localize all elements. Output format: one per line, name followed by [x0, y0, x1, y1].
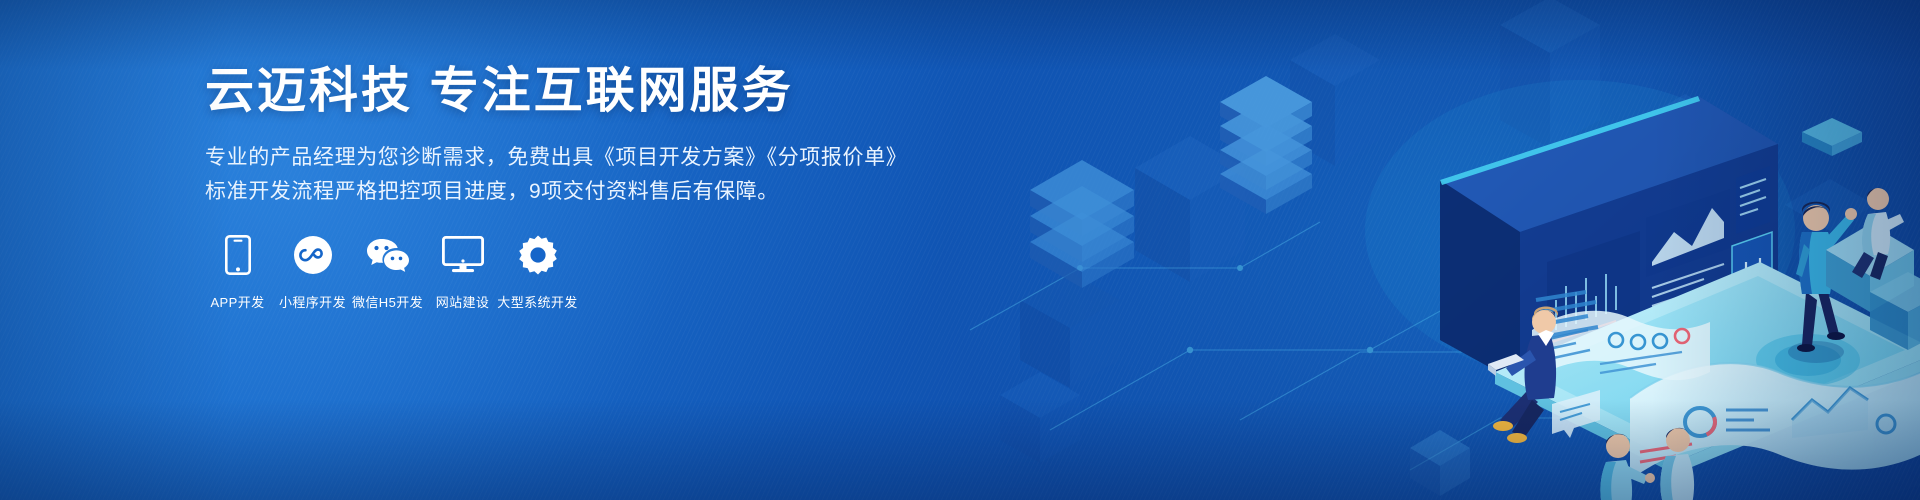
hero-illustration	[940, 0, 1920, 500]
service-item-website[interactable]: 网站建设	[425, 232, 500, 311]
service-label: 网站建设	[436, 292, 490, 311]
monitor-icon	[442, 232, 484, 278]
service-label: 小程序开发	[279, 292, 346, 311]
subtitle-line-1: 专业的产品经理为您诊断需求，免费出具《项目开发方案》《分项报价单》	[205, 146, 907, 169]
service-label: 微信H5开发	[352, 292, 423, 311]
mini-program-icon	[293, 232, 333, 278]
hero-banner: 云迈科技 专注互联网服务 专业的产品经理为您诊断需求，免费出具《项目开发方案》《…	[0, 0, 1920, 500]
service-item-app[interactable]: APP开发	[200, 232, 275, 311]
service-item-wechat-h5[interactable]: 微信H5开发	[350, 232, 425, 311]
gear-icon	[518, 232, 558, 278]
service-list: APP开发 小程序开发 微信	[200, 232, 575, 311]
service-label: APP开发	[210, 292, 264, 311]
wechat-icon	[365, 232, 411, 278]
service-item-large-system[interactable]: 大型系统开发	[500, 232, 575, 311]
hero-subtitle: 专业的产品经理为您诊断需求，免费出具《项目开发方案》《分项报价单》 标准开发流程…	[205, 141, 945, 209]
subtitle-line-2: 标准开发流程严格把控项目进度，9项交付资料售后有保障。	[205, 175, 945, 209]
mobile-phone-icon	[225, 232, 251, 278]
service-label: 大型系统开发	[497, 292, 577, 311]
service-item-miniprogram[interactable]: 小程序开发	[275, 232, 350, 311]
hero-copy: 云迈科技 专注互联网服务 专业的产品经理为您诊断需求，免费出具《项目开发方案》《…	[205, 64, 945, 209]
page-title: 云迈科技 专注互联网服务	[205, 64, 945, 119]
